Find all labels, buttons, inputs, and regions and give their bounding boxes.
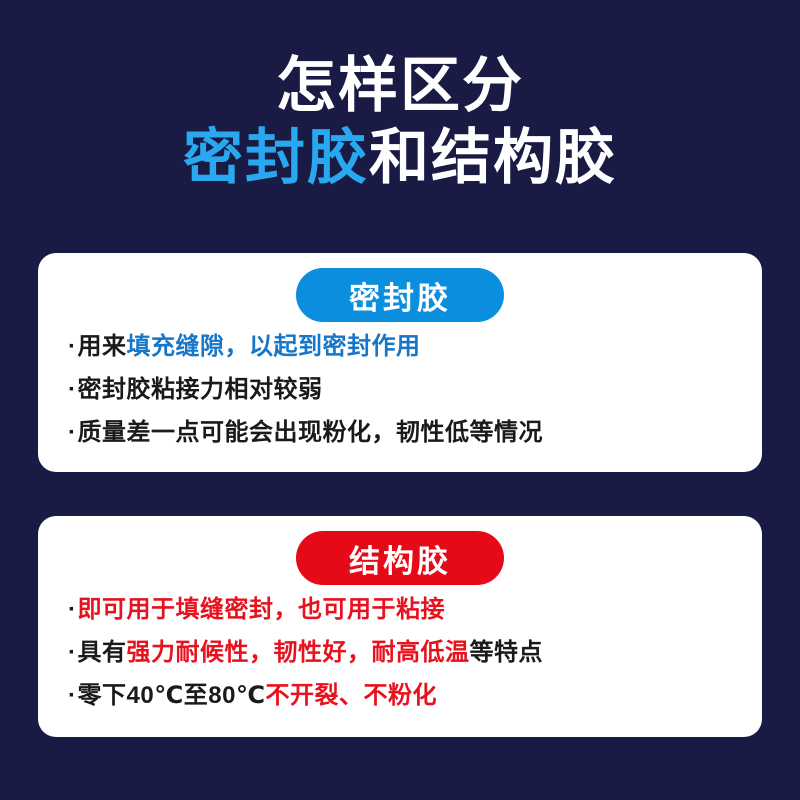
bullet-item: ·零下40℃至80℃不开裂、不粉化 [66,684,762,708]
bullet-item: ·具有强力耐候性，韧性好，耐高低温等特点 [66,641,762,665]
bullet-dot-icon: · [68,682,77,709]
bullet-segment: 等特点 [470,639,544,666]
bullet-dot-icon: · [68,419,77,446]
page-title: 怎样区分 密封胶和结构胶 [0,0,800,188]
page-title-line-1: 怎样区分 [0,56,800,116]
bullet-segment-highlight: 即可用于填缝密封，也可用于粘接 [78,596,446,623]
badge-structural: 结构胶 [296,531,504,585]
bullet-list-structural: ·即可用于填缝密封，也可用于粘接 ·具有强力耐候性，韧性好，耐高低温等特点 ·零… [38,585,762,708]
bullet-dot-icon: · [68,333,77,360]
bullet-segment-highlight: 填充缝隙，以起到密封作用 [127,333,421,360]
page-title-highlight-sealant: 密封胶 [183,124,369,191]
bullet-segment-highlight: 不开裂、不粉化 [266,682,438,709]
bullet-segment: 密封胶粘接力相对较弱 [78,376,323,403]
bullet-segment: 质量差一点可能会出现粉化，韧性低等情况 [78,419,544,446]
bullet-segment: 零下40℃至80℃ [78,682,266,709]
bullet-item: ·质量差一点可能会出现粉化，韧性低等情况 [66,421,762,445]
page-title-line-2: 密封胶和结构胶 [0,128,800,188]
bullet-dot-icon: · [68,376,77,403]
bullet-item: ·用来填充缝隙，以起到密封作用 [66,335,762,359]
bullet-list-sealant: ·用来填充缝隙，以起到密封作用 ·密封胶粘接力相对较弱 ·质量差一点可能会出现粉… [38,322,762,445]
page-title-rest: 和结构胶 [369,124,617,191]
bullet-segment: 具有 [78,639,127,666]
bullet-item: ·即可用于填缝密封，也可用于粘接 [66,598,762,622]
card-sealant: 密封胶 ·用来填充缝隙，以起到密封作用 ·密封胶粘接力相对较弱 ·质量差一点可能… [38,253,762,472]
badge-row-structural: 结构胶 [38,516,762,585]
bullet-dot-icon: · [68,596,77,623]
bullet-segment-highlight: 强力耐候性，韧性好，耐高低温 [127,639,470,666]
badge-row-sealant: 密封胶 [38,253,762,322]
bullet-item: ·密封胶粘接力相对较弱 [66,378,762,402]
card-structural: 结构胶 ·即可用于填缝密封，也可用于粘接 ·具有强力耐候性，韧性好，耐高低温等特… [38,516,762,737]
bullet-segment: 用来 [78,333,127,360]
badge-sealant: 密封胶 [296,268,504,322]
bullet-dot-icon: · [68,639,77,666]
